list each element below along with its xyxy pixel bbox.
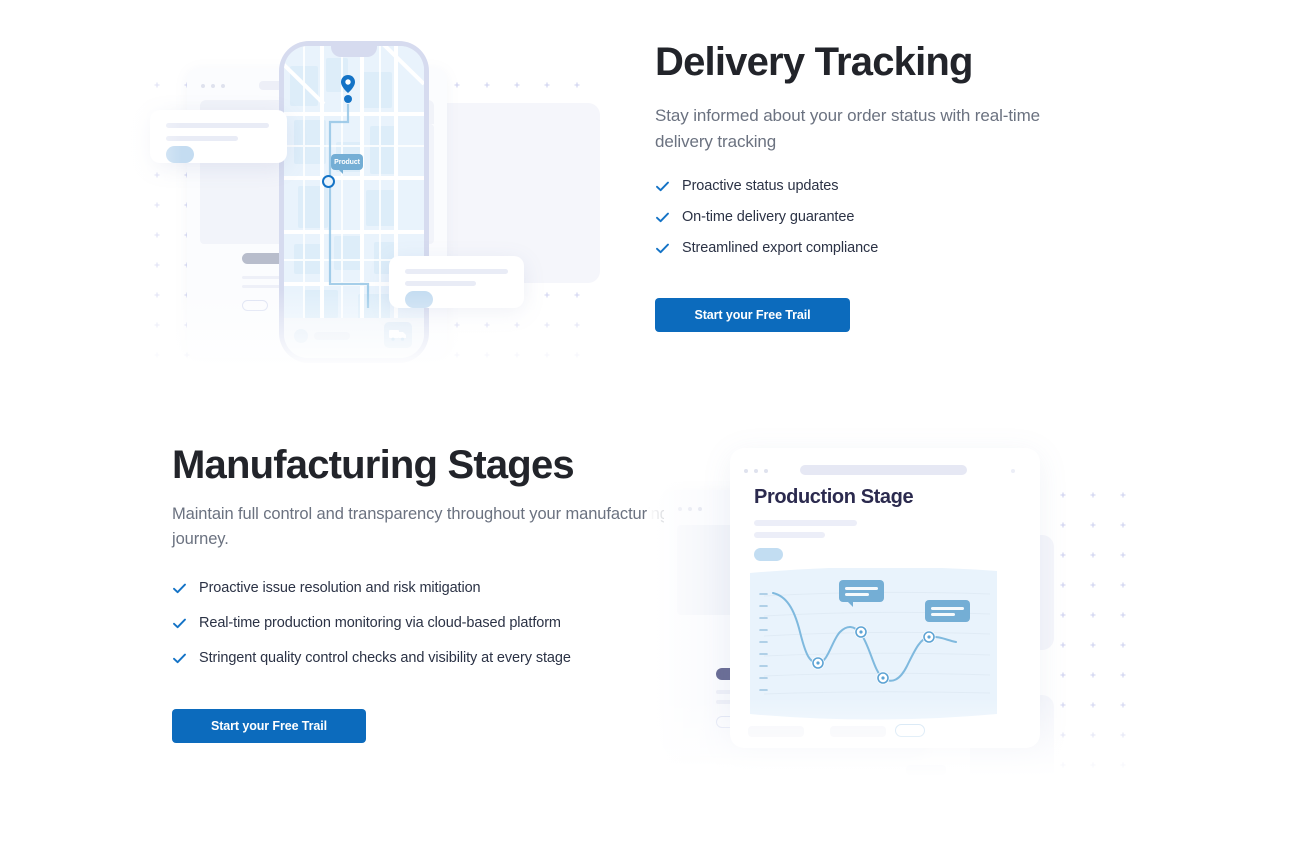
- tooltip-line: [931, 607, 964, 610]
- manufacturing-stages-content: Manufacturing Stages Maintain full contr…: [172, 443, 672, 743]
- tooltip-line: [845, 587, 878, 590]
- laptop-base-notch: [906, 765, 946, 775]
- landing-feature-page: Product: [0, 0, 1298, 850]
- card-line: [166, 136, 238, 141]
- list-item: Real-time production monitoring via clou…: [172, 614, 672, 633]
- window-dot-icon: [764, 469, 768, 473]
- card-line: [405, 269, 508, 274]
- card-pill: [405, 291, 433, 308]
- window-dot-icon: [678, 507, 682, 511]
- list-item: On-time delivery guarantee: [655, 208, 1075, 227]
- window-address-bar: [800, 465, 967, 475]
- list-item-label: Proactive issue resolution and risk miti…: [199, 579, 481, 598]
- content-outline-pill: [242, 300, 268, 311]
- list-item-label: Streamlined export compliance: [682, 239, 878, 258]
- section-subtitle: Maintain full control and transparency t…: [172, 502, 672, 553]
- window-dot-icon: [698, 507, 702, 511]
- production-line-chart: [750, 568, 997, 720]
- footer-outline-pill: [895, 724, 925, 737]
- list-item: Proactive issue resolution and risk miti…: [172, 579, 672, 598]
- phone-device-frame: Product: [279, 41, 429, 363]
- map-waypoint-icon: [322, 175, 335, 188]
- window-dot-icon: [688, 507, 692, 511]
- chart-point: [877, 672, 890, 685]
- footer-placeholder: [748, 726, 804, 737]
- list-item-label: On-time delivery guarantee: [682, 208, 854, 227]
- phone-screen: Product: [284, 46, 424, 358]
- floating-info-card-right: [389, 256, 524, 308]
- list-item: Streamlined export compliance: [655, 239, 1075, 258]
- check-icon: [655, 210, 670, 225]
- section-subtitle: Stay informed about your order status wi…: [655, 103, 1075, 156]
- card-line: [405, 281, 476, 286]
- status-bar-placeholder: [314, 332, 350, 340]
- manufacturing-stages-illustration: Production Stage: [648, 440, 1128, 788]
- placeholder-line: [754, 532, 825, 538]
- window-dot-icon: [744, 469, 748, 473]
- chart-point: [855, 626, 868, 639]
- page-title: Delivery Tracking: [655, 40, 1075, 85]
- placeholder-line: [754, 520, 857, 526]
- tooltip-line: [845, 593, 869, 596]
- filter-pill: [754, 548, 783, 561]
- window-dot-icon: [754, 469, 758, 473]
- start-free-trial-button[interactable]: Start your Free Trail: [655, 298, 850, 332]
- list-item-label: Proactive status updates: [682, 177, 838, 196]
- avatar: [294, 329, 308, 343]
- footer-placeholder: [830, 726, 886, 737]
- check-icon: [172, 651, 187, 666]
- map-origin-dot: [344, 95, 352, 103]
- list-item: Proactive status updates: [655, 177, 1075, 196]
- chart-point: [812, 657, 825, 670]
- map-tooltip-label: Product: [334, 159, 360, 166]
- phone-notch: [331, 46, 377, 57]
- chart-tooltip-one: [839, 580, 884, 602]
- window-dot-icon: [211, 84, 215, 88]
- check-icon: [172, 616, 187, 631]
- check-icon: [655, 241, 670, 256]
- feature-list: Proactive status updates On-time deliver…: [655, 177, 1075, 258]
- delivery-tracking-content: Delivery Tracking Stay informed about yo…: [655, 40, 1075, 332]
- floating-info-card-left: [150, 110, 287, 163]
- list-item-label: Real-time production monitoring via clou…: [199, 614, 561, 633]
- truck-icon: [389, 329, 407, 341]
- window-dot-icon: [1011, 469, 1015, 473]
- list-item-label: Stringent quality control checks and vis…: [199, 649, 571, 668]
- map-tooltip-product: Product: [331, 154, 363, 170]
- page-title: Manufacturing Stages: [172, 443, 672, 488]
- window-dot-icon: [221, 84, 225, 88]
- window-dot-icon: [201, 84, 205, 88]
- laptop-screen: Production Stage: [730, 448, 1040, 748]
- check-icon: [172, 581, 187, 596]
- card-line: [166, 123, 269, 128]
- dashboard-title: Production Stage: [754, 486, 913, 509]
- chart-tooltip-two: [925, 600, 970, 622]
- tooltip-line: [931, 613, 955, 616]
- delivery-tracking-illustration: Product: [112, 28, 596, 380]
- chart-point: [923, 631, 936, 644]
- list-item: Stringent quality control checks and vis…: [172, 649, 672, 668]
- card-pill: [166, 146, 194, 163]
- feature-list: Proactive issue resolution and risk miti…: [172, 579, 672, 668]
- check-icon: [655, 179, 670, 194]
- start-free-trial-button[interactable]: Start your Free Trail: [172, 709, 366, 743]
- map-pin-icon: [341, 75, 355, 93]
- truck-chip: [384, 322, 412, 348]
